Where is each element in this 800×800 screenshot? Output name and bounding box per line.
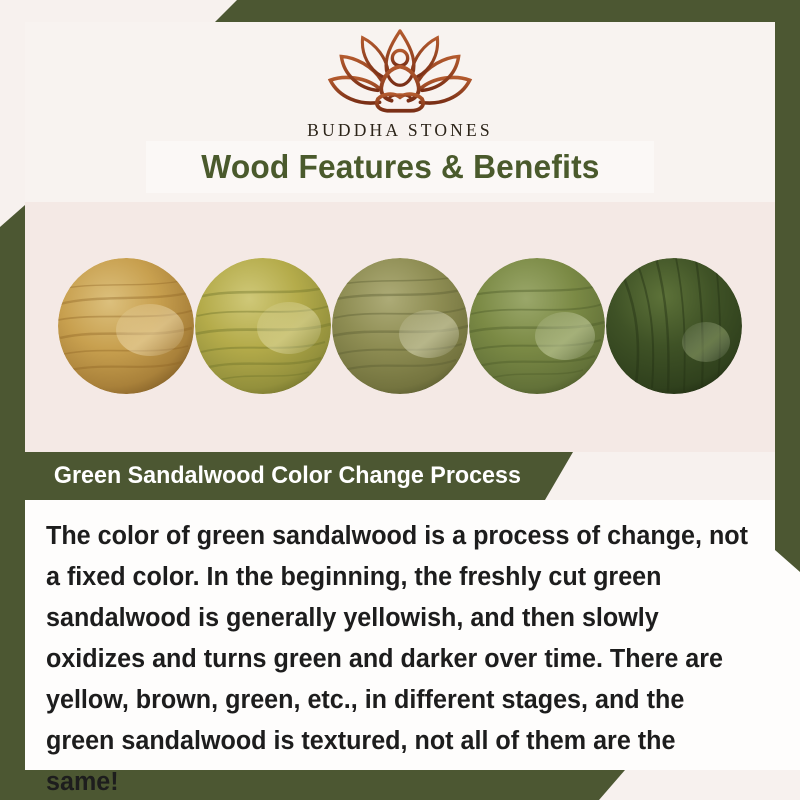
- bead-stage-5: [606, 258, 742, 394]
- frame-bar-left: [0, 205, 25, 800]
- bead-color-stage-row: [25, 253, 775, 398]
- lotus-meditation-figure-icon: [315, 24, 485, 116]
- section-header-ribbon: Green Sandalwood Color Change Process: [25, 452, 573, 500]
- section-heading: Green Sandalwood Color Change Process: [33, 462, 521, 490]
- bead-stage-1: [58, 258, 194, 394]
- frame-bar-top: [215, 0, 800, 22]
- brand-wordmark: BUDDHA STONES: [307, 120, 493, 141]
- brand-logo: BUDDHA STONES: [0, 24, 800, 141]
- title-banner: Wood Features & Benefits: [146, 141, 654, 193]
- page-title: Wood Features & Benefits: [201, 148, 599, 186]
- infographic-root: BUDDHA STONES Wood Features & Benefits: [0, 0, 800, 800]
- bead-stage-3: [332, 258, 468, 394]
- bead-stage-2: [195, 258, 331, 394]
- section-paragraph: The color of green sandalwood is a proce…: [46, 516, 751, 800]
- bead-stage-4: [469, 258, 605, 394]
